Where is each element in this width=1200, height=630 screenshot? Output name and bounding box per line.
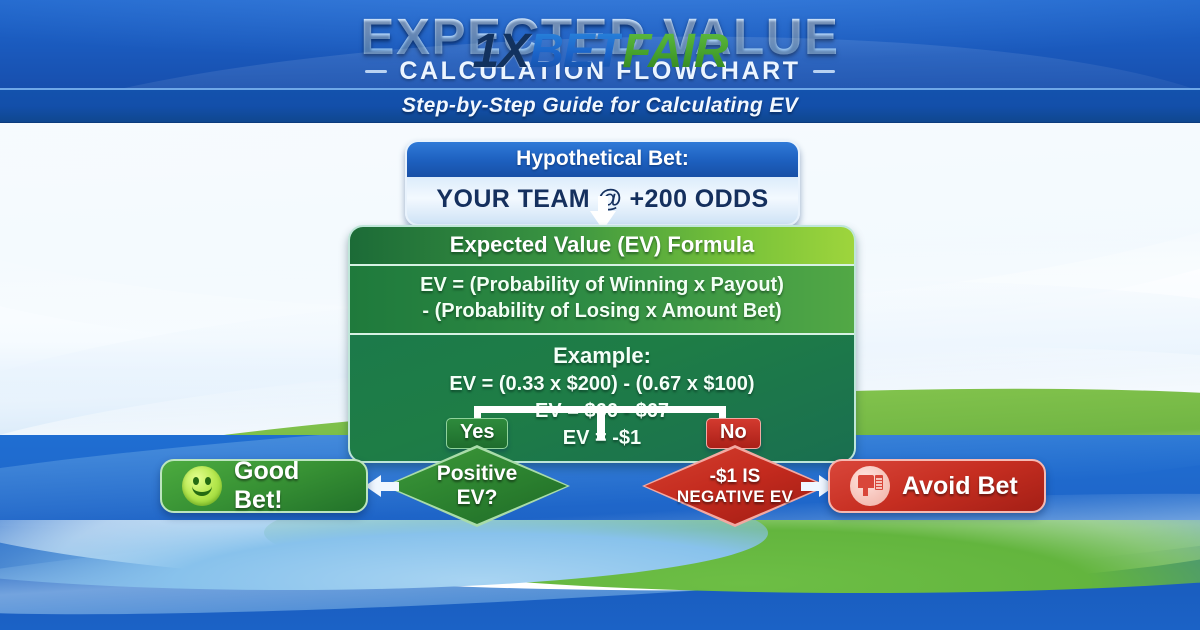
branch-label-no: No (706, 418, 761, 449)
decision-negative-ev: -$1 IS NEGATIVE EV (645, 448, 825, 524)
decision-positive-ev-line1: Positive (437, 462, 518, 486)
footer-banner (0, 520, 1200, 630)
decision-negative-ev-line1: -$1 IS (710, 466, 761, 487)
decision-positive-ev-label: Positive EV? (387, 448, 567, 524)
smiley-face-icon (182, 466, 222, 506)
arrow-left-icon (365, 475, 399, 497)
thumbs-down-icon (850, 466, 890, 506)
formula-definition: EV = (Probability of Winning x Payout) -… (350, 264, 854, 335)
result-good-bet: Good Bet! (160, 459, 368, 513)
decision-negative-ev-label: -$1 IS NEGATIVE EV (645, 448, 825, 524)
logo-text-fair: FAIR (622, 25, 727, 78)
example-line-1: EV = (0.33 x $200) - (0.67 x $100) (360, 371, 844, 398)
hypothetical-bet-header: Hypothetical Bet: (407, 142, 798, 177)
brand-logo: 1XBETFAIR (0, 24, 1200, 79)
result-avoid-bet: Avoid Bet (828, 459, 1046, 513)
guide-band: Step-by-Step Guide for Calculating EV (0, 88, 1200, 123)
decision-positive-ev-line2: EV? (457, 486, 498, 510)
result-good-bet-label: Good Bet! (234, 457, 346, 515)
formula-line-2: - (Probability of Losing x Amount Bet) (360, 298, 844, 324)
branch-label-yes: Yes (446, 418, 508, 449)
decision-positive-ev: Positive EV? (387, 448, 567, 524)
guide-band-text: Step-by-Step Guide for Calculating EV (402, 94, 798, 118)
logo-text-1x: 1X (472, 25, 529, 78)
result-avoid-bet-label: Avoid Bet (902, 472, 1018, 501)
infographic-canvas: EXPECTED VALUE CALCULATION FLOWCHART Ste… (0, 0, 1200, 630)
connector-horizontal (474, 406, 726, 413)
decision-negative-ev-line2: NEGATIVE EV (677, 487, 793, 506)
formula-line-1: EV = (Probability of Winning x Payout) (360, 272, 844, 298)
formula-header: Expected Value (EV) Formula (350, 227, 854, 264)
logo-text-bet: BET (529, 25, 622, 78)
formula-example: Example: EV = (0.33 x $200) - (0.67 x $1… (350, 335, 854, 461)
example-label: Example: (360, 341, 844, 371)
